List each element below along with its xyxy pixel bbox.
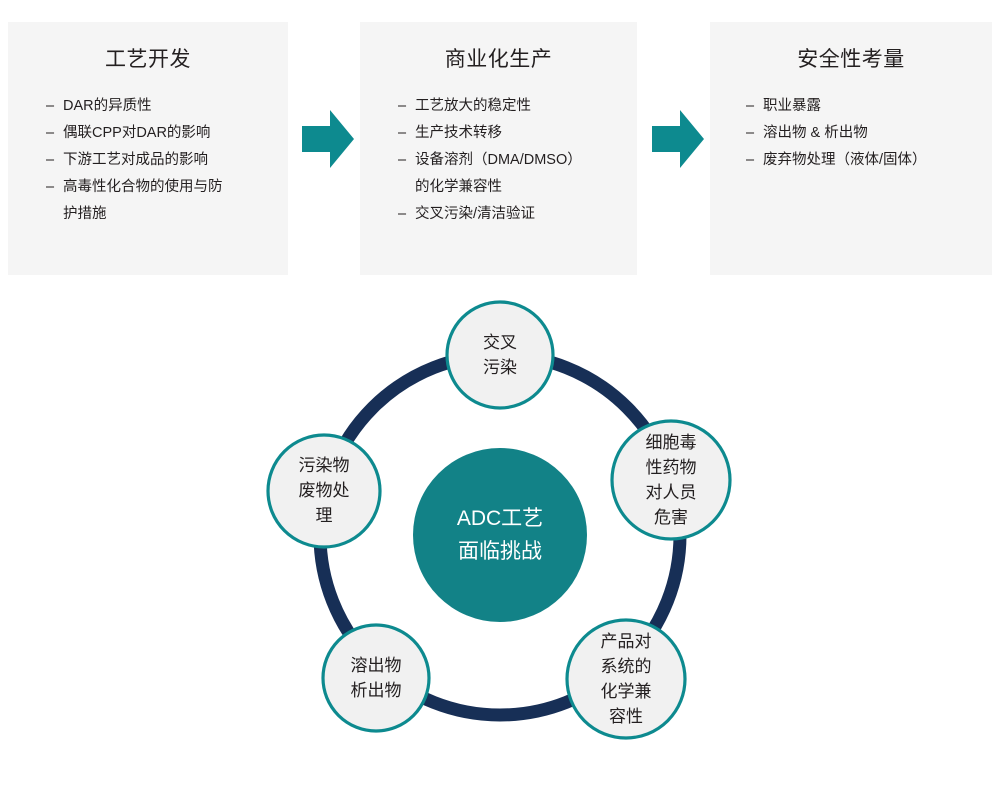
bullet-dash: – bbox=[398, 93, 406, 120]
bubble-cytotoxic-drug-personnel-hazard[interactable] bbox=[612, 421, 730, 539]
list-item: –交叉污染/清洁验证 bbox=[398, 201, 627, 228]
list-item-label: 交叉污染/清洁验证 bbox=[415, 206, 535, 222]
bubble-product-system-chemical-compatibility[interactable] bbox=[567, 620, 685, 738]
list-item-label: 工艺放大的稳定性 bbox=[415, 98, 531, 114]
card-bullet-list: –职业暴露 –溶出物 & 析出物 –废弃物处理（液体/固体） bbox=[710, 93, 992, 174]
card-title: 安全性考量 bbox=[710, 49, 992, 70]
list-item-label: 下游工艺对成品的影响 bbox=[63, 152, 208, 168]
list-item: –偶联CPP对DAR的影响 bbox=[46, 120, 274, 147]
card-title: 工艺开发 bbox=[8, 49, 288, 70]
arrow-right-icon bbox=[302, 110, 354, 168]
card-safety-considerations: 安全性考量 –职业暴露 –溶出物 & 析出物 –废弃物处理（液体/固体） bbox=[710, 22, 992, 275]
diagram-canvas bbox=[250, 295, 750, 775]
list-item-label: 设备溶剂（DMA/DMSO） 的化学兼容性 bbox=[415, 152, 582, 195]
bubble-cross-contamination[interactable] bbox=[447, 302, 553, 408]
card-bullet-list: –工艺放大的稳定性 –生产技术转移 –设备溶剂（DMA/DMSO） 的化学兼容性… bbox=[360, 93, 637, 228]
bullet-dash: – bbox=[746, 120, 754, 147]
list-item-label: 废弃物处理（液体/固体） bbox=[763, 152, 927, 168]
center-disc bbox=[413, 448, 587, 622]
list-item-label: 偶联CPP对DAR的影响 bbox=[63, 125, 210, 141]
list-item: –职业暴露 bbox=[746, 93, 982, 120]
list-item: –高毒性化合物的使用与防 护措施 bbox=[46, 174, 274, 228]
list-item: –下游工艺对成品的影响 bbox=[46, 147, 274, 174]
bullet-dash: – bbox=[46, 93, 54, 120]
arrow-right-icon bbox=[652, 110, 704, 168]
card-title: 商业化生产 bbox=[360, 49, 637, 70]
list-item-label: DAR的异质性 bbox=[63, 98, 152, 114]
bullet-dash: – bbox=[398, 201, 406, 228]
bullet-dash: – bbox=[746, 93, 754, 120]
bullet-dash: – bbox=[398, 120, 406, 147]
bullet-dash: – bbox=[46, 174, 54, 201]
list-item-label: 职业暴露 bbox=[763, 98, 821, 114]
list-item-label: 生产技术转移 bbox=[415, 125, 502, 141]
adc-challenges-diagram: ADC工艺 面临挑战 交叉 污染 细胞毒 性药物 对人员 危害 产品对 系统的 … bbox=[250, 295, 750, 775]
process-cards-row: 工艺开发 –DAR的异质性 –偶联CPP对DAR的影响 –下游工艺对成品的影响 … bbox=[0, 0, 1000, 290]
bubble-contaminant-waste-disposal[interactable] bbox=[268, 435, 380, 547]
list-item: –设备溶剂（DMA/DMSO） 的化学兼容性 bbox=[398, 147, 627, 201]
card-bullet-list: –DAR的异质性 –偶联CPP对DAR的影响 –下游工艺对成品的影响 –高毒性化… bbox=[8, 93, 288, 228]
bubble-leachables-extractables[interactable] bbox=[323, 625, 429, 731]
bullet-dash: – bbox=[46, 147, 54, 174]
card-process-development: 工艺开发 –DAR的异质性 –偶联CPP对DAR的影响 –下游工艺对成品的影响 … bbox=[8, 22, 288, 275]
list-item-label: 溶出物 & 析出物 bbox=[763, 125, 868, 141]
list-item-label: 高毒性化合物的使用与防 护措施 bbox=[63, 179, 223, 222]
bullet-dash: – bbox=[746, 147, 754, 174]
bullet-dash: – bbox=[398, 147, 406, 174]
list-item: –DAR的异质性 bbox=[46, 93, 274, 120]
list-item: –溶出物 & 析出物 bbox=[746, 120, 982, 147]
bullet-dash: – bbox=[46, 120, 54, 147]
list-item: –工艺放大的稳定性 bbox=[398, 93, 627, 120]
card-commercial-manufacturing: 商业化生产 –工艺放大的稳定性 –生产技术转移 –设备溶剂（DMA/DMSO） … bbox=[360, 22, 637, 275]
list-item: –废弃物处理（液体/固体） bbox=[746, 147, 982, 174]
list-item: –生产技术转移 bbox=[398, 120, 627, 147]
